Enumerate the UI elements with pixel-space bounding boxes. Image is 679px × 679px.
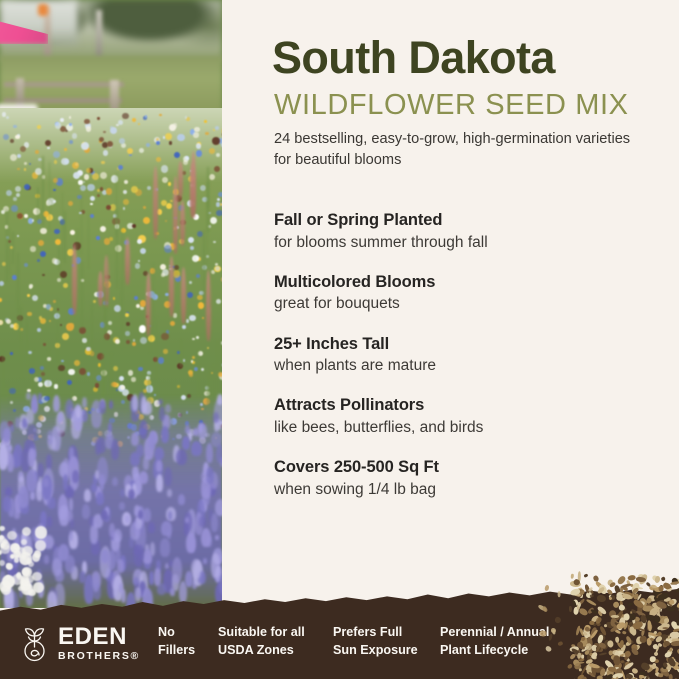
seed bbox=[618, 650, 629, 654]
seed bbox=[590, 627, 598, 639]
photo-white-bloom bbox=[20, 555, 30, 565]
seed bbox=[654, 671, 660, 677]
seed bbox=[584, 626, 590, 632]
photo-bloom bbox=[69, 140, 73, 144]
photo-bloom bbox=[60, 324, 62, 326]
photo-bloom bbox=[119, 138, 125, 144]
product-description: 24 bestselling, easy-to-grow, high-germi… bbox=[274, 129, 649, 171]
photo-bloom bbox=[120, 385, 125, 390]
photo-bloom bbox=[79, 368, 86, 375]
photo-bloom bbox=[55, 239, 61, 245]
seed bbox=[604, 659, 615, 670]
photo-bloom bbox=[189, 281, 192, 284]
seed bbox=[592, 641, 605, 653]
seed bbox=[573, 587, 582, 595]
seed bbox=[665, 637, 673, 643]
seed bbox=[656, 615, 667, 624]
seed bbox=[658, 672, 664, 677]
photo-larkspur bbox=[26, 392, 31, 400]
seed bbox=[573, 607, 579, 615]
seed bbox=[661, 621, 668, 627]
seed bbox=[632, 598, 645, 609]
seed bbox=[652, 643, 659, 649]
seed bbox=[663, 662, 672, 672]
seed bbox=[657, 624, 666, 630]
photo-bloom bbox=[86, 126, 92, 132]
photo-bloom bbox=[84, 174, 89, 179]
seed bbox=[591, 654, 598, 661]
seed bbox=[630, 611, 633, 615]
seed bbox=[611, 654, 617, 659]
seed bbox=[581, 637, 585, 641]
photo-larkspur bbox=[69, 498, 73, 510]
seed bbox=[575, 625, 581, 635]
photo-bloom bbox=[78, 180, 83, 185]
seed-loose bbox=[573, 662, 582, 671]
photo-larkspur bbox=[38, 393, 42, 400]
photo-bloom bbox=[192, 338, 195, 341]
seed bbox=[580, 665, 586, 675]
seed bbox=[616, 592, 620, 598]
photo-larkspur bbox=[154, 447, 164, 460]
seed bbox=[631, 647, 640, 656]
photo-bloom bbox=[177, 385, 180, 388]
seed bbox=[623, 661, 632, 670]
seed bbox=[615, 667, 620, 672]
seed bbox=[658, 666, 670, 678]
photo-stem bbox=[21, 305, 23, 378]
seed bbox=[597, 586, 606, 594]
photo-bloom bbox=[61, 158, 68, 165]
seed bbox=[629, 583, 634, 588]
seed bbox=[649, 585, 656, 590]
photo-bloom bbox=[163, 349, 168, 354]
photo-spike bbox=[180, 200, 185, 247]
seed-loose bbox=[558, 591, 561, 597]
photo-stem bbox=[107, 254, 109, 311]
photo-bloom bbox=[131, 186, 138, 193]
photo-bloom bbox=[30, 246, 36, 252]
seed bbox=[614, 621, 624, 629]
seed bbox=[650, 585, 657, 589]
footer-badge-no-fillers: No Fillers bbox=[158, 624, 195, 660]
seed bbox=[646, 637, 652, 645]
photo-bloom bbox=[49, 320, 51, 322]
seed bbox=[630, 644, 640, 653]
seed bbox=[660, 584, 664, 587]
seed bbox=[659, 602, 662, 613]
photo-larkspur bbox=[160, 538, 171, 557]
seed bbox=[648, 632, 658, 638]
seed bbox=[670, 632, 679, 640]
seed bbox=[615, 610, 624, 621]
photo-bloom bbox=[173, 123, 177, 127]
seed bbox=[611, 615, 618, 618]
photo-bloom bbox=[215, 126, 219, 130]
seed bbox=[617, 622, 624, 629]
photo-larkspur bbox=[72, 470, 79, 483]
seed bbox=[663, 663, 667, 669]
seed bbox=[666, 586, 673, 592]
photo-larkspur bbox=[131, 432, 139, 446]
seed bbox=[591, 651, 599, 659]
photo-bloom bbox=[123, 207, 126, 210]
seed bbox=[591, 644, 600, 653]
seed bbox=[646, 597, 653, 604]
photo-stem bbox=[217, 341, 219, 402]
photo-bloom bbox=[173, 313, 178, 318]
seed bbox=[581, 640, 588, 648]
photo-larkspur bbox=[148, 522, 155, 533]
seed bbox=[638, 676, 642, 679]
seed bbox=[578, 645, 585, 650]
seed bbox=[631, 587, 639, 594]
feature-item: Fall or Spring Planted for blooms summer… bbox=[274, 210, 664, 253]
seed bbox=[625, 657, 630, 662]
seed bbox=[569, 646, 578, 652]
photo-bloom bbox=[196, 150, 202, 156]
photo-larkspur bbox=[178, 494, 185, 505]
seed bbox=[638, 597, 648, 608]
seed bbox=[589, 620, 595, 624]
seed-loose bbox=[554, 616, 561, 623]
photo-bloom bbox=[166, 203, 172, 209]
seed bbox=[639, 671, 646, 679]
seed bbox=[624, 591, 634, 598]
photo-bloom bbox=[209, 174, 215, 180]
brand-name-primary: EDEN bbox=[58, 625, 140, 649]
seed bbox=[645, 667, 651, 672]
product-title: South Dakota bbox=[272, 34, 555, 81]
seed bbox=[667, 635, 670, 639]
seed bbox=[658, 622, 670, 632]
photo-stem bbox=[58, 247, 60, 271]
seed bbox=[616, 619, 628, 628]
photo-larkspur bbox=[128, 489, 135, 499]
seed bbox=[664, 597, 672, 603]
photo-bloom bbox=[3, 134, 9, 140]
photo-stem bbox=[37, 187, 39, 221]
seed bbox=[665, 634, 676, 644]
photo-bloom bbox=[32, 295, 38, 301]
photo-bloom bbox=[140, 337, 147, 344]
wildflower-meadow-photo bbox=[0, 0, 222, 608]
seed bbox=[613, 661, 623, 671]
seed bbox=[656, 612, 662, 621]
photo-bloom bbox=[135, 263, 141, 269]
seed bbox=[609, 595, 615, 601]
photo-bloom bbox=[156, 157, 161, 162]
seed bbox=[634, 595, 638, 599]
seed bbox=[587, 607, 594, 614]
seed bbox=[669, 647, 673, 651]
photo-larkspur bbox=[139, 471, 148, 485]
seed bbox=[606, 640, 614, 649]
photo-bloom bbox=[95, 383, 100, 388]
seed bbox=[617, 655, 621, 658]
photo-stem bbox=[91, 305, 93, 356]
seed bbox=[584, 630, 588, 634]
feature-title: Covers 250-500 Sq Ft bbox=[274, 457, 664, 478]
photo-bloom bbox=[15, 135, 19, 139]
photo-larkspur bbox=[156, 460, 163, 472]
seed bbox=[571, 647, 582, 656]
seed bbox=[578, 658, 585, 663]
seed bbox=[608, 596, 612, 600]
seed bbox=[588, 646, 594, 653]
photo-bloom bbox=[198, 302, 205, 309]
seed bbox=[597, 676, 603, 679]
photo-stem bbox=[104, 368, 106, 394]
seed bbox=[644, 675, 649, 679]
seed bbox=[608, 666, 618, 673]
photo-bloom bbox=[96, 236, 99, 239]
seed bbox=[639, 675, 645, 679]
seed bbox=[633, 651, 637, 654]
seed bbox=[673, 628, 679, 632]
photo-larkspur bbox=[43, 478, 49, 487]
photo-bloom bbox=[123, 190, 127, 194]
seed bbox=[644, 675, 650, 679]
seed bbox=[578, 644, 584, 650]
photo-bloom bbox=[84, 119, 90, 125]
seed bbox=[663, 651, 672, 659]
photo-bloom bbox=[189, 315, 196, 322]
photo-larkspur bbox=[193, 428, 199, 436]
seed bbox=[623, 661, 635, 671]
photo-larkspur bbox=[143, 549, 152, 564]
seed bbox=[598, 583, 609, 595]
seed bbox=[600, 668, 606, 677]
photo-larkspur bbox=[168, 511, 173, 520]
seed bbox=[576, 592, 582, 598]
seed bbox=[613, 650, 621, 659]
seed bbox=[630, 608, 637, 613]
seed bbox=[631, 620, 644, 631]
photo-larkspur bbox=[161, 426, 169, 443]
seed bbox=[642, 605, 653, 611]
photo-post-right bbox=[96, 10, 102, 58]
seed bbox=[611, 666, 619, 672]
photo-larkspur bbox=[191, 441, 202, 456]
seed bbox=[607, 669, 614, 677]
photo-larkspur bbox=[91, 483, 97, 492]
seed bbox=[651, 663, 656, 670]
seed bbox=[602, 670, 608, 676]
photo-bloom bbox=[174, 152, 180, 158]
seed bbox=[669, 674, 673, 679]
feature-item: Attracts Pollinators like bees, butterfl… bbox=[274, 395, 664, 438]
photo-larkspur bbox=[0, 421, 10, 441]
seed bbox=[578, 607, 589, 617]
seed bbox=[641, 629, 645, 637]
seed bbox=[639, 601, 645, 607]
seed bbox=[572, 600, 577, 607]
photo-bloom bbox=[73, 172, 80, 179]
photo-spike bbox=[169, 256, 174, 318]
seed bbox=[577, 589, 584, 596]
seed bbox=[583, 627, 591, 636]
seed bbox=[659, 586, 664, 592]
photo-larkspur bbox=[172, 557, 182, 583]
seed bbox=[617, 592, 628, 603]
photo-bloom bbox=[27, 312, 32, 317]
photo-larkspur bbox=[26, 409, 34, 424]
seed bbox=[652, 587, 663, 597]
photo-bloom bbox=[37, 259, 40, 262]
photo-larkspur bbox=[158, 399, 163, 405]
photo-bloom bbox=[169, 141, 172, 144]
photo-larkspur bbox=[15, 417, 20, 428]
seed bbox=[626, 639, 634, 646]
seed bbox=[598, 625, 607, 636]
seed bbox=[594, 666, 605, 674]
photo-larkspur bbox=[84, 489, 92, 502]
seed bbox=[668, 647, 672, 652]
seed bbox=[619, 600, 623, 607]
seed bbox=[578, 590, 585, 595]
seed bbox=[627, 614, 636, 622]
content-panel: South Dakota WILDFLOWER SEED MIX 24 best… bbox=[222, 0, 679, 608]
photo-bloom bbox=[196, 274, 200, 278]
photo-bloom bbox=[125, 313, 129, 317]
photo-stem bbox=[207, 182, 209, 231]
photo-bloom bbox=[187, 292, 193, 298]
photo-spike bbox=[181, 267, 186, 324]
seed bbox=[674, 661, 678, 665]
seed bbox=[631, 643, 639, 652]
seed-loose bbox=[544, 585, 549, 591]
photo-larkspur bbox=[143, 508, 151, 521]
seed bbox=[583, 623, 592, 632]
photo-larkspur bbox=[164, 467, 172, 487]
photo-larkspur bbox=[63, 474, 68, 490]
photo-bloom bbox=[72, 133, 77, 138]
seed bbox=[619, 671, 623, 676]
seed bbox=[659, 633, 669, 641]
photo-bloom bbox=[188, 237, 194, 243]
feature-item: Covers 250-500 Sq Ft when sowing 1/4 lb … bbox=[274, 457, 664, 500]
seed bbox=[655, 667, 659, 674]
seed bbox=[622, 585, 629, 592]
photo-larkspur bbox=[112, 477, 118, 486]
seed bbox=[585, 640, 591, 646]
seed bbox=[646, 624, 652, 632]
seed-loose bbox=[551, 628, 556, 633]
photo-bloom bbox=[72, 162, 79, 169]
photo-bloom bbox=[122, 113, 129, 120]
photo-bloom bbox=[17, 213, 23, 219]
seed bbox=[626, 660, 632, 666]
seed bbox=[581, 645, 590, 653]
seed bbox=[572, 599, 578, 606]
photo-bloom bbox=[69, 123, 72, 126]
photo-spike bbox=[98, 271, 103, 306]
seed bbox=[619, 617, 626, 626]
photo-larkspur bbox=[47, 516, 52, 528]
seed bbox=[664, 597, 673, 608]
photo-larkspur bbox=[95, 470, 99, 479]
photo-stem bbox=[210, 271, 212, 308]
seed bbox=[630, 628, 636, 636]
seed bbox=[615, 647, 624, 657]
seed bbox=[668, 657, 675, 669]
photo-bloom bbox=[10, 352, 13, 355]
feature-title: Attracts Pollinators bbox=[274, 395, 664, 416]
seed bbox=[663, 635, 671, 644]
feature-subtitle: when sowing 1/4 lb bag bbox=[274, 480, 664, 500]
photo-bloom bbox=[17, 168, 20, 171]
seed bbox=[649, 607, 661, 619]
seed bbox=[588, 671, 596, 678]
seed bbox=[590, 629, 598, 639]
seed bbox=[646, 615, 656, 621]
photo-larkspur bbox=[130, 522, 140, 541]
photo-spike bbox=[153, 166, 158, 239]
seed bbox=[586, 599, 597, 606]
photo-larkspur bbox=[65, 399, 74, 420]
photo-bloom bbox=[140, 300, 146, 306]
photo-bloom bbox=[131, 377, 135, 381]
seed bbox=[644, 608, 650, 614]
photo-larkspur bbox=[52, 558, 62, 577]
photo-white-bloom bbox=[35, 540, 46, 551]
seed bbox=[606, 666, 614, 674]
seed bbox=[579, 668, 582, 671]
photo-larkspur bbox=[119, 502, 125, 510]
photo-stem bbox=[64, 211, 66, 263]
photo-bloom bbox=[196, 143, 201, 148]
seed bbox=[624, 650, 632, 658]
seed bbox=[664, 641, 670, 647]
photo-bloom bbox=[6, 190, 12, 196]
seed bbox=[573, 661, 585, 664]
photo-bloom bbox=[24, 214, 28, 218]
seed bbox=[610, 618, 617, 627]
photo-bloom bbox=[161, 165, 168, 172]
seed bbox=[576, 674, 584, 679]
seed bbox=[639, 637, 645, 644]
photo-bloom bbox=[6, 319, 11, 324]
seed bbox=[618, 604, 626, 612]
seed bbox=[586, 631, 592, 640]
photo-larkspur bbox=[108, 550, 116, 571]
seed-loose bbox=[577, 601, 581, 607]
photo-bloom bbox=[10, 324, 14, 328]
seed bbox=[591, 666, 597, 676]
feature-item: Multicolored Blooms great for bouquets bbox=[274, 272, 664, 315]
photo-stem bbox=[156, 316, 158, 380]
seed bbox=[665, 657, 675, 667]
photo-larkspur bbox=[186, 533, 196, 553]
photo-bloom bbox=[97, 117, 99, 119]
seed bbox=[620, 670, 626, 679]
photo-bloom bbox=[82, 338, 87, 343]
seed-loose bbox=[595, 616, 603, 625]
seed bbox=[633, 617, 640, 622]
photo-larkspur bbox=[141, 396, 147, 414]
seed-loose bbox=[588, 587, 594, 593]
seed bbox=[616, 590, 625, 599]
seed bbox=[675, 588, 679, 594]
photo-spike bbox=[191, 151, 196, 218]
photo-stem bbox=[203, 230, 205, 303]
seed bbox=[581, 630, 587, 636]
photo-bloom bbox=[70, 230, 75, 235]
seed bbox=[580, 593, 583, 599]
photo-stem bbox=[48, 349, 50, 394]
seed bbox=[668, 599, 675, 606]
